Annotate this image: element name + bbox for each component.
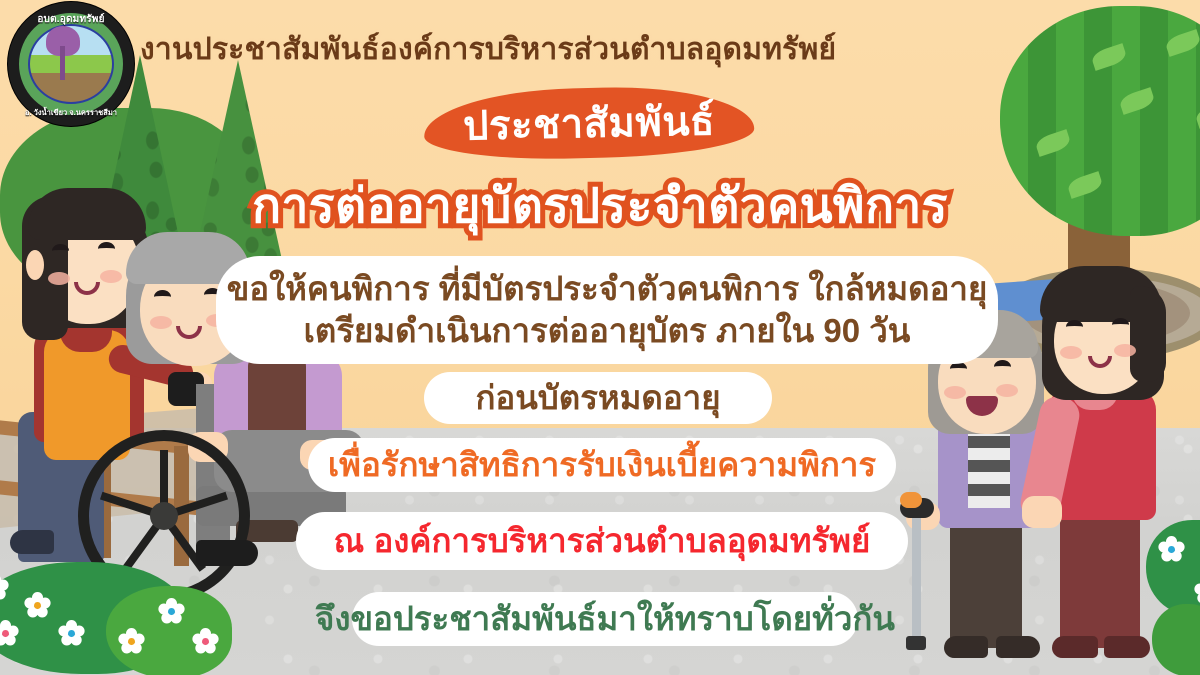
page-title: การต่ออายุบัตรประจำตัวคนพิการ <box>0 168 1200 244</box>
body-text-plate-1: ขอให้คนพิการ ที่มีบัตรประจำตัวคนพิการ ใก… <box>216 256 998 364</box>
body-line-6: จึงขอประชาสัมพันธ์มาให้ทราบโดยทั่วกัน <box>315 598 895 640</box>
logo-trunk <box>60 46 65 80</box>
body-line-5: ณ องค์การบริหารส่วนตำบลอุดมทรัพย์ <box>334 520 871 562</box>
body-text-plate-2: ก่อนบัตรหมดอายุ <box>424 372 772 424</box>
body-text-plate-3: เพื่อรักษาสิทธิการรับเงินเบี้ยความพิการ <box>308 438 896 492</box>
flower-bush <box>106 586 232 675</box>
body-line-2: เตรียมดำเนินการต่ออายุบัตร ภายใน 90 วัน <box>304 310 911 352</box>
announcement-badge: ประชาสัมพันธ์ <box>424 88 754 158</box>
body-text-plate-4: ณ องค์การบริหารส่วนตำบลอุดมทรัพย์ <box>296 512 908 570</box>
body-line-3: ก่อนบัตรหมดอายุ <box>475 377 720 419</box>
badge-label: ประชาสัมพันธ์ <box>423 85 754 162</box>
header-title: งานประชาสัมพันธ์องค์การบริหารส่วนตำบลอุด… <box>140 26 836 73</box>
body-line-1: ขอให้คนพิการ ที่มีบัตรประจำตัวคนพิการ ใก… <box>227 268 988 310</box>
organization-logo: อบต.อุดมทรัพย์ อ. วังน้ำเขียว จ.นครราชสี… <box>8 2 134 126</box>
body-text-plate-5: จึงขอประชาสัมพันธ์มาให้ทราบโดยทั่วกัน <box>352 592 858 646</box>
logo-bottom-text: อ. วังน้ำเขียว จ.นครราชสีมา <box>8 107 134 119</box>
body-line-4: เพื่อรักษาสิทธิการรับเงินเบี้ยความพิการ <box>328 444 876 486</box>
logo-top-text: อบต.อุดมทรัพย์ <box>8 12 134 27</box>
poster-canvas: อบต.อุดมทรัพย์ อ. วังน้ำเขียว จ.นครราชสี… <box>0 0 1200 675</box>
